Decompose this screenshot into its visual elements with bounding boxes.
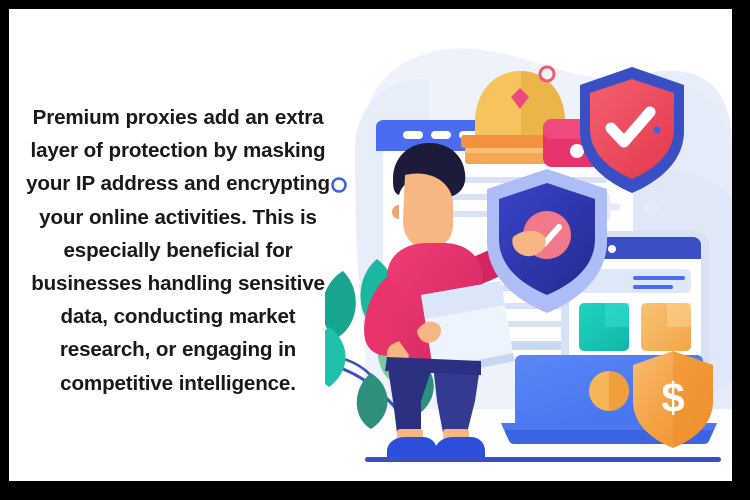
image-frame: Premium proxies add an extra layer of pr… — [0, 0, 750, 500]
dollar-symbol: $ — [661, 374, 684, 421]
body-paragraph: Premium proxies add an extra layer of pr… — [13, 101, 343, 400]
content-canvas: Premium proxies add an extra layer of pr… — [9, 9, 732, 481]
circle-outline-blue — [333, 179, 346, 192]
text-column: Premium proxies add an extra layer of pr… — [13, 101, 343, 400]
dot-blue-small — [654, 127, 661, 134]
ground-line — [365, 457, 721, 462]
online-security-illustration: $ — [325, 9, 732, 481]
face — [403, 173, 453, 249]
